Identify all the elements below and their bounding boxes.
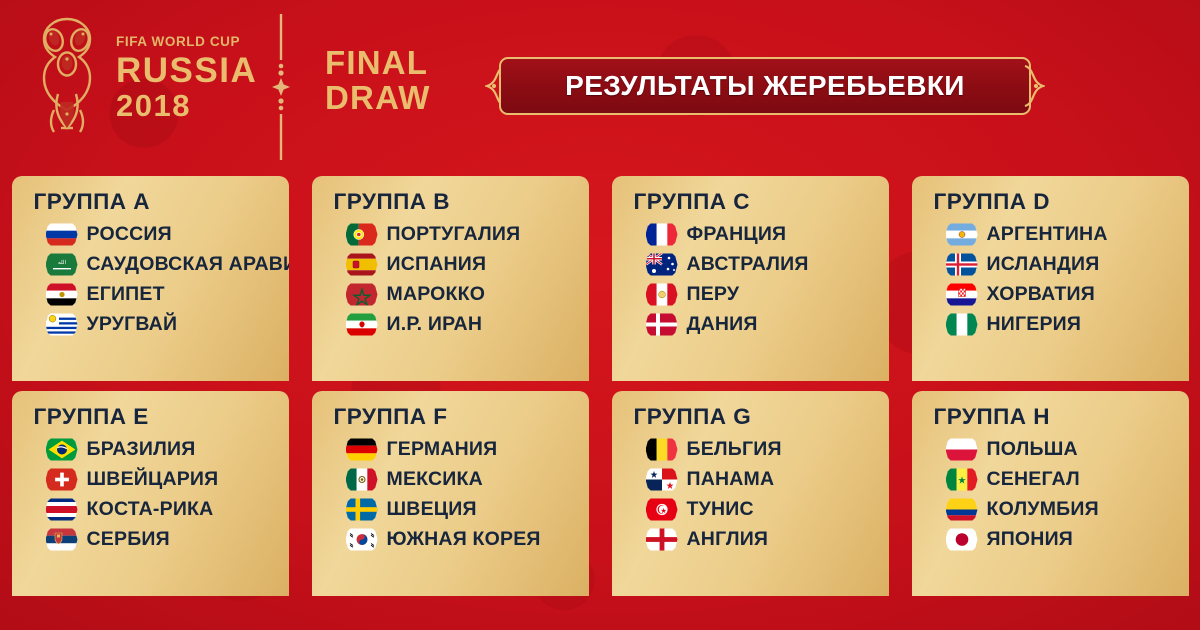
group-card-inner: ГРУППА FГЕРМАНИЯМЕКСИКАШВЕЦИЯЮЖНАЯ КОРЕЯ xyxy=(312,404,589,596)
group-title: ГРУППА F xyxy=(334,404,589,430)
flag-switzerland-icon xyxy=(46,468,78,491)
group-card: ГРУППА BПОРТУГАЛИЯИСПАНИЯМАРОККОИ.Р. ИРА… xyxy=(312,176,589,381)
banner-title: РЕЗУЛЬТАТЫ ЖЕРЕБЬЕВКИ xyxy=(565,70,965,102)
flag-spain-icon xyxy=(346,253,378,276)
flag-south-korea-icon xyxy=(346,528,378,551)
team-name: МЕКСИКА xyxy=(387,468,483,491)
team-row: И.Р. ИРАН xyxy=(346,311,589,338)
group-card: ГРУППА HПОЛЬШАСЕНЕГАЛКОЛУМБИЯЯПОНИЯ xyxy=(912,391,1189,596)
flag-nigeria-icon xyxy=(946,313,978,336)
team-name: ПОРТУГАЛИЯ xyxy=(387,223,521,246)
team-row: ДАНИЯ xyxy=(646,311,889,338)
flag-poland-icon xyxy=(946,438,978,461)
team-name: АВСТРАЛИЯ xyxy=(687,253,809,276)
group-title: ГРУППА E xyxy=(34,404,289,430)
team-name: ПАНАМА xyxy=(687,468,775,491)
team-name: БЕЛЬГИЯ xyxy=(687,438,782,461)
diamond-divider-ornament xyxy=(270,14,292,160)
team-row: ИСЛАНДИЯ xyxy=(946,251,1189,278)
group-card: ГРУППА CФРАНЦИЯАВСТРАЛИЯПЕРУДАНИЯ xyxy=(612,176,889,381)
group-card-inner: ГРУППА CФРАНЦИЯАВСТРАЛИЯПЕРУДАНИЯ xyxy=(612,189,889,381)
group-title: ГРУППА H xyxy=(934,404,1189,430)
flag-serbia-icon xyxy=(46,528,78,551)
team-row: МАРОККО xyxy=(346,281,589,308)
team-name: ЯПОНИЯ xyxy=(987,528,1074,551)
group-card-slot: ГРУППА HПОЛЬШАСЕНЕГАЛКОЛУМБИЯЯПОНИЯ xyxy=(900,391,1200,605)
fifa-world-cup-trophy-logo xyxy=(28,14,106,136)
logo-wordmark: FIFA WORLD CUP RUSSIA 2018 xyxy=(116,29,257,122)
svg-text:ﺍﻟﻠﻪ: ﺍﻟﻠﻪ xyxy=(58,259,66,266)
flag-senegal-icon xyxy=(946,468,978,491)
team-row: АНГЛИЯ xyxy=(646,526,889,553)
group-title: ГРУППА C xyxy=(634,189,889,215)
team-name: ГЕРМАНИЯ xyxy=(387,438,498,461)
group-cards-grid: ГРУППА AРОССИЯﺍﻟﻠﻪСАУДОВСКАЯ АРАВИЯЕГИПЕ… xyxy=(0,176,1200,630)
team-row: ПЕРУ xyxy=(646,281,889,308)
team-row: АРГЕНТИНА xyxy=(946,221,1189,248)
group-card-inner: ГРУППА DАРГЕНТИНАИСЛАНДИЯХОРВАТИЯНИГЕРИЯ xyxy=(912,189,1189,381)
flag-brazil-icon xyxy=(46,438,78,461)
team-name: ТУНИС xyxy=(687,498,754,521)
final-draw-line-2: DRAW xyxy=(325,81,475,116)
team-name: КОЛУМБИЯ xyxy=(987,498,1099,521)
group-card-slot: ГРУППА DАРГЕНТИНАИСЛАНДИЯХОРВАТИЯНИГЕРИЯ xyxy=(900,176,1200,390)
team-row: ТУНИС xyxy=(646,496,889,523)
team-name: ПЕРУ xyxy=(687,283,740,306)
poster-canvas: FIFA WORLD CUP RUSSIA 2018 FINAL DRAW xyxy=(0,0,1200,630)
team-row: ГЕРМАНИЯ xyxy=(346,436,589,463)
final-draw-line-1: FINAL xyxy=(325,46,475,81)
group-title: ГРУППА G xyxy=(634,404,889,430)
group-title: ГРУППА A xyxy=(34,189,289,215)
team-row: МЕКСИКА xyxy=(346,466,589,493)
flag-costa-rica-icon xyxy=(46,498,78,521)
team-row: РОССИЯ xyxy=(46,221,289,248)
flag-japan-icon xyxy=(946,528,978,551)
team-row: БРАЗИЛИЯ xyxy=(46,436,289,463)
team-row: ШВЕЦИЯ xyxy=(346,496,589,523)
team-name: ХОРВАТИЯ xyxy=(987,283,1095,306)
team-name: ПОЛЬША xyxy=(987,438,1078,461)
group-card: ГРУППА AРОССИЯﺍﻟﻠﻪСАУДОВСКАЯ АРАВИЯЕГИПЕ… xyxy=(12,176,289,381)
team-row: ШВЕЙЦАРИЯ xyxy=(46,466,289,493)
team-name: ФРАНЦИЯ xyxy=(687,223,787,246)
team-name: АНГЛИЯ xyxy=(687,528,769,551)
flag-australia-icon xyxy=(646,253,678,276)
group-row-bottom: ГРУППА EБРАЗИЛИЯШВЕЙЦАРИЯКОСТА-РИКАСЕРБИ… xyxy=(0,391,1200,605)
flag-france-icon xyxy=(646,223,678,246)
team-row: КОСТА-РИКА xyxy=(46,496,289,523)
flag-egypt-icon xyxy=(46,283,78,306)
flag-sweden-icon xyxy=(346,498,378,521)
flag-germany-icon xyxy=(346,438,378,461)
team-row: СЕРБИЯ xyxy=(46,526,289,553)
final-draw-heading: FINAL DRAW xyxy=(325,46,475,116)
team-name: КОСТА-РИКА xyxy=(87,498,214,521)
group-card-slot: ГРУППА AРОССИЯﺍﻟﻠﻪСАУДОВСКАЯ АРАВИЯЕГИПЕ… xyxy=(0,176,300,390)
group-card-slot: ГРУППА BПОРТУГАЛИЯИСПАНИЯМАРОККОИ.Р. ИРА… xyxy=(300,176,600,390)
year-2018-text: 2018 xyxy=(116,90,257,121)
team-name: БРАЗИЛИЯ xyxy=(87,438,196,461)
flag-england-icon xyxy=(646,528,678,551)
team-row: АВСТРАЛИЯ xyxy=(646,251,889,278)
flag-morocco-icon xyxy=(346,283,378,306)
banner-plate: РЕЗУЛЬТАТЫ ЖЕРЕБЬЕВКИ xyxy=(499,57,1031,115)
group-card-inner: ГРУППА EБРАЗИЛИЯШВЕЙЦАРИЯКОСТА-РИКАСЕРБИ… xyxy=(12,404,289,596)
team-row: ПОЛЬША xyxy=(946,436,1189,463)
team-name: ЮЖНАЯ КОРЕЯ xyxy=(387,528,541,551)
group-card: ГРУППА DАРГЕНТИНАИСЛАНДИЯХОРВАТИЯНИГЕРИЯ xyxy=(912,176,1189,381)
team-name: ИСПАНИЯ xyxy=(387,253,487,276)
group-card-slot: ГРУППА FГЕРМАНИЯМЕКСИКАШВЕЦИЯЮЖНАЯ КОРЕЯ xyxy=(300,391,600,605)
team-name: ЕГИПЕТ xyxy=(87,283,165,306)
team-name: САУДОВСКАЯ АРАВИЯ xyxy=(87,253,312,276)
team-name: И.Р. ИРАН xyxy=(387,313,483,336)
team-name: СЕРБИЯ xyxy=(87,528,170,551)
team-name: СЕНЕГАЛ xyxy=(987,468,1080,491)
group-card-inner: ГРУППА BПОРТУГАЛИЯИСПАНИЯМАРОККОИ.Р. ИРА… xyxy=(312,189,589,381)
fifa-world-cup-logo: FIFA WORLD CUP RUSSIA 2018 xyxy=(28,14,257,136)
team-name: МАРОККО xyxy=(387,283,486,306)
group-title: ГРУППА B xyxy=(334,189,589,215)
group-card-inner: ГРУППА AРОССИЯﺍﻟﻠﻪСАУДОВСКАЯ АРАВИЯЕГИПЕ… xyxy=(12,189,289,381)
group-card-slot: ГРУППА GБЕЛЬГИЯПАНАМАТУНИСАНГЛИЯ xyxy=(600,391,900,605)
group-card-slot: ГРУППА EБРАЗИЛИЯШВЕЙЦАРИЯКОСТА-РИКАСЕРБИ… xyxy=(0,391,300,605)
team-row: КОЛУМБИЯ xyxy=(946,496,1189,523)
team-row: ХОРВАТИЯ xyxy=(946,281,1189,308)
team-row: ЮЖНАЯ КОРЕЯ xyxy=(346,526,589,553)
team-row: ЯПОНИЯ xyxy=(946,526,1189,553)
group-card-inner: ГРУППА GБЕЛЬГИЯПАНАМАТУНИСАНГЛИЯ xyxy=(612,404,889,596)
flag-mexico-icon xyxy=(346,468,378,491)
team-name: АРГЕНТИНА xyxy=(987,223,1108,246)
flag-panama-icon xyxy=(646,468,678,491)
flag-peru-icon xyxy=(646,283,678,306)
team-name: НИГЕРИЯ xyxy=(987,313,1082,336)
flag-uruguay-icon xyxy=(46,313,78,336)
group-card: ГРУППА EБРАЗИЛИЯШВЕЙЦАРИЯКОСТА-РИКАСЕРБИ… xyxy=(12,391,289,596)
team-name: УРУГВАЙ xyxy=(87,313,178,336)
group-card: ГРУППА FГЕРМАНИЯМЕКСИКАШВЕЦИЯЮЖНАЯ КОРЕЯ xyxy=(312,391,589,596)
flag-saudi-arabia-icon: ﺍﻟﻠﻪ xyxy=(46,253,78,276)
banner-brace-right-icon xyxy=(1023,65,1045,107)
team-name: ИСЛАНДИЯ xyxy=(987,253,1100,276)
team-row: БЕЛЬГИЯ xyxy=(646,436,889,463)
flag-argentina-icon xyxy=(946,223,978,246)
fifa-world-cup-text: FIFA WORLD CUP xyxy=(116,35,257,49)
header: FIFA WORLD CUP RUSSIA 2018 FINAL DRAW xyxy=(0,0,1200,175)
group-title: ГРУППА D xyxy=(934,189,1189,215)
flag-denmark-icon xyxy=(646,313,678,336)
team-row: ПОРТУГАЛИЯ xyxy=(346,221,589,248)
team-row: ФРАНЦИЯ xyxy=(646,221,889,248)
draw-results-banner: РЕЗУЛЬТАТЫ ЖЕРЕБЬЕВКИ xyxy=(487,57,1043,115)
team-row: ИСПАНИЯ xyxy=(346,251,589,278)
flag-portugal-icon xyxy=(346,223,378,246)
team-row: НИГЕРИЯ xyxy=(946,311,1189,338)
russia-text: RUSSIA xyxy=(116,53,257,88)
team-row: ЕГИПЕТ xyxy=(46,281,289,308)
flag-belgium-icon xyxy=(646,438,678,461)
group-card-inner: ГРУППА HПОЛЬШАСЕНЕГАЛКОЛУМБИЯЯПОНИЯ xyxy=(912,404,1189,596)
flag-iceland-icon xyxy=(946,253,978,276)
flag-russia-icon xyxy=(46,223,78,246)
team-name: ДАНИЯ xyxy=(687,313,758,336)
team-name: РОССИЯ xyxy=(87,223,172,246)
group-row-top: ГРУППА AРОССИЯﺍﻟﻠﻪСАУДОВСКАЯ АРАВИЯЕГИПЕ… xyxy=(0,176,1200,390)
team-row: ﺍﻟﻠﻪСАУДОВСКАЯ АРАВИЯ xyxy=(46,251,289,278)
group-card-slot: ГРУППА CФРАНЦИЯАВСТРАЛИЯПЕРУДАНИЯ xyxy=(600,176,900,390)
flag-colombia-icon xyxy=(946,498,978,521)
team-row: УРУГВАЙ xyxy=(46,311,289,338)
flag-croatia-icon xyxy=(946,283,978,306)
team-row: ПАНАМА xyxy=(646,466,889,493)
flag-tunisia-icon xyxy=(646,498,678,521)
flag-iran-icon xyxy=(346,313,378,336)
team-name: ШВЕЙЦАРИЯ xyxy=(87,468,219,491)
team-name: ШВЕЦИЯ xyxy=(387,498,477,521)
group-card: ГРУППА GБЕЛЬГИЯПАНАМАТУНИСАНГЛИЯ xyxy=(612,391,889,596)
team-row: СЕНЕГАЛ xyxy=(946,466,1189,493)
